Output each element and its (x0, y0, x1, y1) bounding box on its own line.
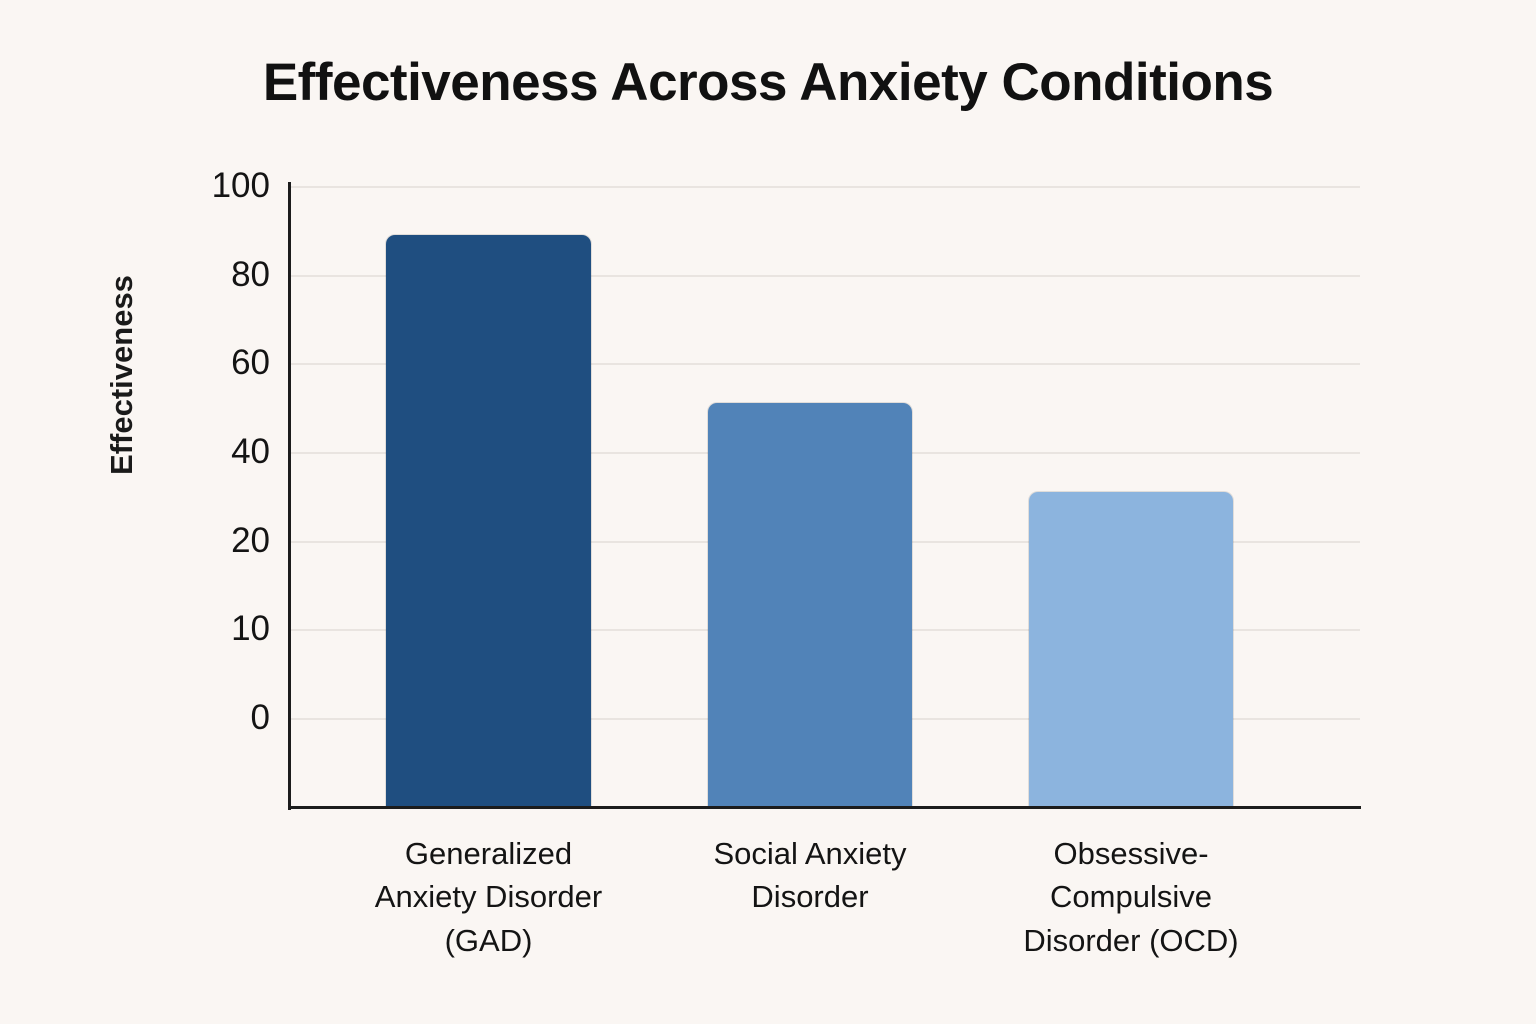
plot-area (289, 180, 1361, 810)
x-axis-line (289, 806, 1361, 809)
y-tick-label: 80 (150, 257, 270, 292)
y-tick-label: 20 (150, 523, 270, 558)
y-tick-label: 10 (150, 611, 270, 646)
bar[interactable] (386, 235, 591, 808)
bar[interactable] (708, 403, 912, 808)
x-category-label: Generalized Anxiety Disorder (GAD) (329, 832, 649, 962)
y-tick-label: 0 (150, 700, 270, 735)
y-axis-line (288, 182, 291, 810)
y-axis-title: Effectiveness (104, 255, 144, 495)
bar[interactable] (1029, 492, 1233, 808)
bar-chart: Effectiveness Across Anxiety Conditions … (0, 0, 1536, 1024)
y-tick-label: 100 (150, 168, 270, 203)
x-category-label: Obsessive- Compulsive Disorder (OCD) (971, 832, 1291, 962)
x-category-label: Social Anxiety Disorder (650, 832, 970, 919)
y-tick-label: 60 (150, 345, 270, 380)
y-tick-label: 40 (150, 434, 270, 469)
y-axis-tick-labels: 10080604020100 (150, 0, 270, 1024)
gridline (289, 186, 1360, 188)
